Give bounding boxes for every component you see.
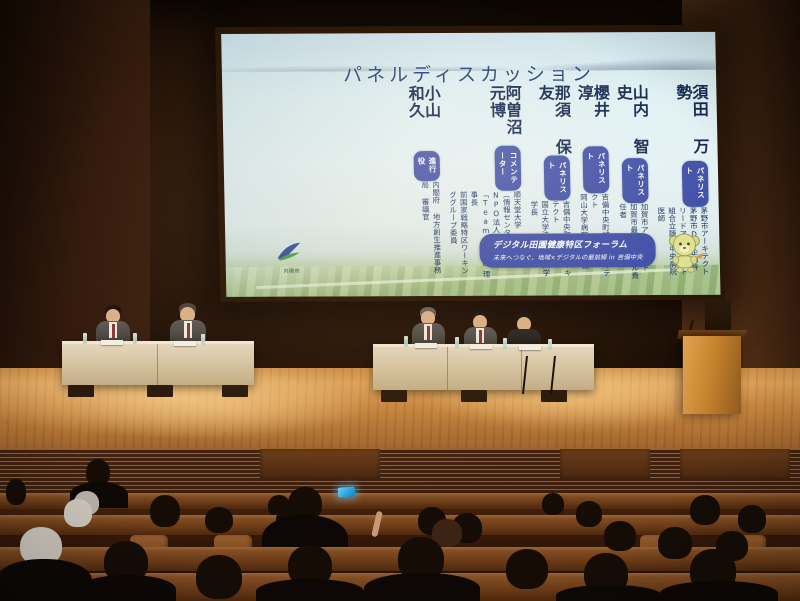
person-necktie — [187, 323, 190, 338]
audience-area — [0, 449, 800, 601]
slide-canvas: パネルディスカッション 須田 万勢 パネリスト 茅野市アーキテクト 茅野市DX企… — [221, 32, 720, 297]
commentator-name: 阿曽沼 元博 — [488, 85, 521, 147]
person-necktie — [112, 324, 115, 338]
audience-shoulders — [364, 573, 480, 601]
bear-mascot-icon — [665, 229, 706, 273]
table-leg — [461, 390, 487, 402]
affiliation-line: 内閣府 地方創生推進事務局 審議官 — [419, 181, 442, 281]
water-bottle — [455, 337, 459, 348]
role-badge: 進行役 — [414, 151, 441, 181]
role-badge: パネリスト — [583, 147, 610, 194]
role-badge: パネリスト — [622, 158, 649, 204]
person-necktie — [479, 330, 482, 343]
smartphone-screen — [338, 486, 356, 497]
name-placard — [519, 345, 541, 350]
audience-head — [205, 507, 233, 533]
audience-head — [150, 495, 180, 527]
moderator-name: 小山 和久 — [406, 85, 439, 151]
cabinet-office-label: 内閣府 — [274, 268, 310, 275]
moderator-affiliations: 内閣府 地方創生推進事務局 審議官 — [419, 181, 442, 281]
role-badge: コメンテーター — [495, 146, 522, 191]
audience-head — [64, 499, 92, 527]
panelist-name: 山内 智史 — [615, 84, 648, 158]
audience-shoulders — [78, 575, 176, 601]
table-panel-seam — [521, 347, 522, 390]
rear-wall-panel — [560, 449, 650, 479]
audience-shoulders — [660, 581, 778, 601]
table-leg — [222, 385, 248, 397]
role-badge: パネリスト — [682, 160, 709, 207]
audience-head — [604, 521, 636, 551]
slide-title: パネルディスカッション — [343, 59, 595, 87]
moderator-entry: 小山 和久 進行役 内閣府 地方創生推進事務局 審議官 — [404, 85, 442, 281]
name-placard — [174, 341, 196, 346]
speaker-table-left — [62, 341, 254, 385]
audience-shoulders — [556, 585, 662, 601]
forum-banner: デジタル田園健康特区フォーラム 未来へつなぐ、地域×デジタルの最前線 in 吉備… — [480, 233, 656, 268]
table-leg — [381, 390, 407, 402]
forum-banner-subtitle: 未来へつなぐ、地域×デジタルの最前線 in 吉備中央 — [493, 252, 643, 262]
panelist-name: 那須 保友 — [537, 84, 570, 156]
audience-head — [542, 493, 564, 515]
cabinet-office-logo: 内閣府 — [273, 241, 310, 271]
table-leg — [68, 385, 94, 397]
person-necktie — [427, 326, 430, 340]
panelist-name: 須田 万勢 — [674, 84, 708, 161]
water-bottle — [133, 333, 137, 344]
table-panel-seam — [157, 344, 158, 385]
audience-head — [506, 549, 548, 589]
forum-banner-title: デジタル田園健康特区フォーラム — [493, 238, 643, 251]
rear-wall-panel — [260, 449, 380, 479]
audience-head — [658, 527, 692, 559]
water-bottle — [548, 339, 552, 350]
water-bottle — [201, 334, 205, 345]
audience-head — [196, 555, 242, 599]
name-placard — [101, 340, 123, 345]
panelist-name: 櫻井 淳 — [576, 84, 609, 146]
table-panel-seam — [447, 347, 448, 390]
audience-head — [690, 495, 720, 525]
speaker-table-right — [373, 344, 594, 390]
projection-screen: パネルディスカッション 須田 万勢 パネリスト 茅野市アーキテクト 茅野市DX企… — [215, 25, 726, 302]
water-bottle — [503, 338, 507, 349]
rear-wall-panel — [680, 449, 790, 479]
audience-head — [576, 501, 602, 527]
water-bottle — [83, 333, 87, 344]
cabinet-office-mark-icon — [273, 241, 309, 263]
name-placard — [470, 344, 492, 349]
audience-shoulders — [256, 579, 364, 601]
role-badge: パネリスト — [544, 156, 571, 201]
audience-head — [738, 505, 766, 533]
podium-lectern — [683, 336, 741, 414]
audience-head — [6, 479, 26, 505]
affiliation-line: 前国家戦略特区ワーキンググループ委員 — [447, 191, 470, 281]
name-placard — [415, 343, 437, 348]
stage-chair — [522, 356, 556, 394]
auditorium-photo: パネルディスカッション 須田 万勢 パネリスト 茅野市アーキテクト 茅野市DX企… — [0, 0, 800, 601]
table-leg — [147, 385, 173, 397]
water-bottle — [404, 336, 408, 347]
